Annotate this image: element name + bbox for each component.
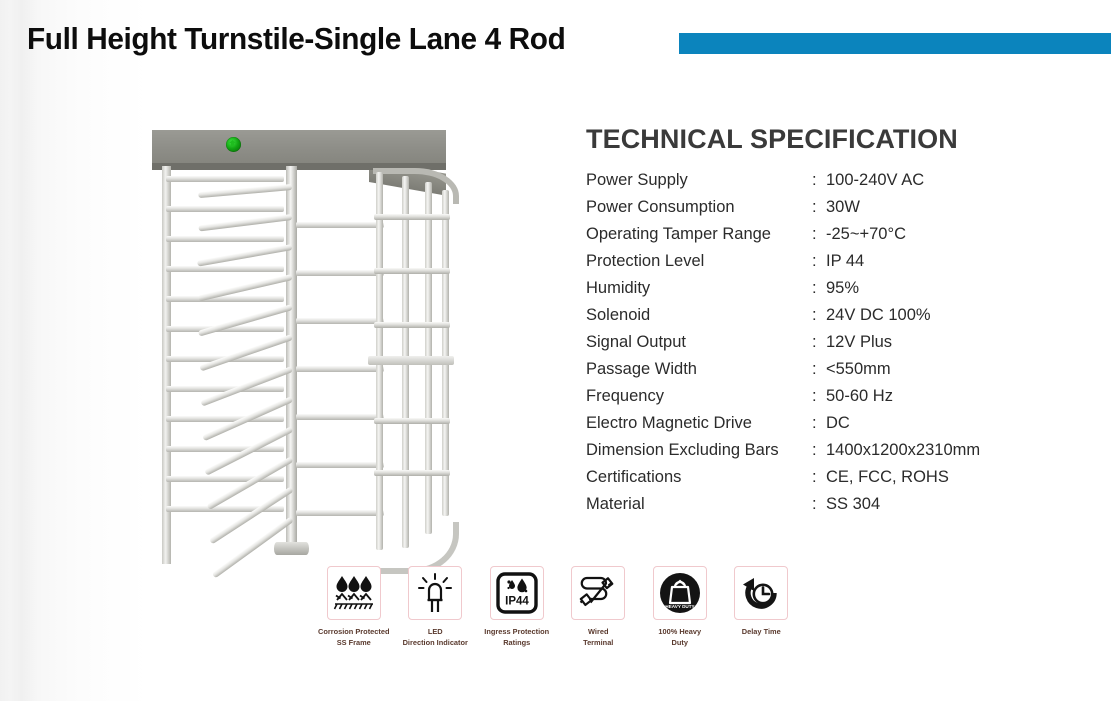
spec-label: Certifications [586, 468, 812, 487]
rear-rail [296, 462, 384, 468]
spec-value: <550mm [826, 360, 891, 379]
spec-separator: : [812, 387, 826, 406]
product-image-turnstile [140, 118, 470, 538]
spec-value: -25~+70°C [826, 225, 906, 244]
spec-row: Dimension Excluding Bars : 1400x1200x231… [586, 441, 1026, 468]
rear-rail [296, 366, 384, 372]
badge-label: Ingress Protection Ratings [484, 627, 549, 648]
spec-value: 95% [826, 279, 859, 298]
page-title: Full Height Turnstile-Single Lane 4 Rod [27, 21, 565, 57]
delay-clock-icon [740, 572, 782, 614]
spec-heading: TECHNICAL SPECIFICATION [586, 124, 1026, 155]
spec-row: Electro Magnetic Drive : DC [586, 414, 1026, 441]
spec-value: 1400x1200x2310mm [826, 441, 980, 460]
badge-box [327, 566, 381, 620]
spec-separator: : [812, 441, 826, 460]
spec-label: Electro Magnetic Drive [586, 414, 812, 433]
spec-value: 50-60 Hz [826, 387, 893, 406]
spec-row: Certifications : CE, FCC, ROHS [586, 468, 1026, 495]
rotor-arm [198, 214, 292, 231]
ip44-rating-icon: IP44 [496, 572, 538, 614]
badge-box: IP44 [490, 566, 544, 620]
wall-rail [166, 176, 284, 182]
spec-row: Solenoid : 24V DC 100% [586, 306, 1026, 333]
spec-row: Frequency : 50-60 Hz [586, 387, 1026, 414]
spec-label: Power Consumption [586, 198, 812, 217]
badge-label: LED Direction Indicator [403, 627, 468, 648]
wall-rail [166, 446, 284, 452]
spec-separator: : [812, 306, 826, 325]
cage-rail [374, 322, 450, 328]
spec-separator: : [812, 495, 826, 514]
spec-label: Solenoid [586, 306, 812, 325]
spec-row: Operating Tamper Range : -25~+70°C [586, 225, 1026, 252]
rear-rail [296, 414, 384, 420]
spec-separator: : [812, 252, 826, 271]
feature-badge-row: Corrosion Protected SS Frame [313, 566, 803, 661]
spec-separator: : [812, 333, 826, 352]
spec-row: Passage Width : <550mm [586, 360, 1026, 387]
badge-corrosion-protected: Corrosion Protected SS Frame [313, 566, 395, 661]
badge-label: Delay Time [742, 627, 781, 638]
spec-label: Power Supply [586, 171, 812, 190]
spec-value: CE, FCC, ROHS [826, 468, 949, 487]
page-header: Full Height Turnstile-Single Lane 4 Rod [0, 0, 1111, 76]
spec-table: Power Supply : 100-240V AC Power Consump… [586, 171, 1026, 522]
product-spec-sheet: Full Height Turnstile-Single Lane 4 Rod [0, 0, 1111, 701]
title-accent-bar [679, 33, 1111, 54]
spec-label: Protection Level [586, 252, 812, 271]
rotor-arm [199, 334, 293, 371]
cage-rail [374, 214, 450, 220]
badge-led-direction-indicator: LED Direction Indicator [395, 566, 477, 661]
spec-value: 30W [826, 198, 860, 217]
spec-row: Protection Level : IP 44 [586, 252, 1026, 279]
spec-label: Material [586, 495, 812, 514]
badge-box [734, 566, 788, 620]
cage-rail [374, 268, 450, 274]
heavy-duty-bag-icon: HEAVY DUTY [658, 571, 702, 615]
badge-label: Corrosion Protected SS Frame [318, 627, 389, 648]
rear-rail [296, 318, 384, 324]
rotor-base-plate [274, 542, 309, 555]
led-direction-indicator-icon [226, 137, 241, 152]
spec-row: Signal Output : 12V Plus [586, 333, 1026, 360]
badge-box: HEAVY DUTY [653, 566, 707, 620]
spec-separator: : [812, 198, 826, 217]
rotor-arm [198, 184, 292, 198]
cage-rail [374, 418, 450, 424]
badge-delay-time: Delay Time [721, 566, 803, 661]
spec-label: Operating Tamper Range [586, 225, 812, 244]
spec-value: IP 44 [826, 252, 864, 271]
spec-separator: : [812, 279, 826, 298]
rotor-arm [197, 244, 293, 267]
spec-value: SS 304 [826, 495, 880, 514]
spec-separator: : [812, 468, 826, 487]
spec-separator: : [812, 171, 826, 190]
badge-ingress-protection: IP44 Ingress Protection Ratings [476, 566, 558, 661]
badge-box [408, 566, 462, 620]
spec-label: Dimension Excluding Bars [586, 441, 812, 460]
left-frame-post [162, 166, 171, 564]
cage-post [442, 190, 449, 516]
badge-heavy-duty: HEAVY DUTY 100% Heavy Duty [639, 566, 721, 661]
badge-label: Wired Terminal [583, 627, 613, 648]
spec-value: 12V Plus [826, 333, 892, 352]
badge-label: 100% Heavy Duty [658, 627, 701, 648]
wired-terminal-icon [577, 572, 619, 614]
rear-rail [296, 222, 384, 228]
ip44-text: IP44 [505, 596, 529, 608]
spec-value: 100-240V AC [826, 171, 924, 190]
wall-rail [166, 296, 284, 302]
canopy-top [152, 130, 446, 163]
spec-row: Material : SS 304 [586, 495, 1026, 522]
wall-rail [166, 266, 284, 272]
wall-rail [166, 206, 284, 212]
spec-value: DC [826, 414, 850, 433]
spec-label: Signal Output [586, 333, 812, 352]
technical-specification-section: TECHNICAL SPECIFICATION Power Supply : 1… [586, 124, 1026, 522]
spec-label: Frequency [586, 387, 812, 406]
spec-label: Passage Width [586, 360, 812, 379]
spec-separator: : [812, 360, 826, 379]
spec-row: Humidity : 95% [586, 279, 1026, 306]
cage-rail [374, 470, 450, 476]
rear-rail [296, 270, 384, 276]
wall-rail [166, 416, 284, 422]
rear-rail [296, 510, 384, 516]
spec-label: Humidity [586, 279, 812, 298]
wall-rail [166, 236, 284, 242]
spec-row: Power Supply : 100-240V AC [586, 171, 1026, 198]
badge-wired-terminal: Wired Terminal [558, 566, 640, 661]
badge-box [571, 566, 625, 620]
spec-row: Power Consumption : 30W [586, 198, 1026, 225]
spec-value: 24V DC 100% [826, 306, 931, 325]
heavy-duty-text: HEAVY DUTY [665, 604, 694, 609]
cage-mid-band [368, 356, 454, 365]
spec-separator: : [812, 225, 826, 244]
water-drops-corrosion-icon [333, 573, 375, 613]
led-bulb-icon [416, 572, 454, 614]
spec-separator: : [812, 414, 826, 433]
